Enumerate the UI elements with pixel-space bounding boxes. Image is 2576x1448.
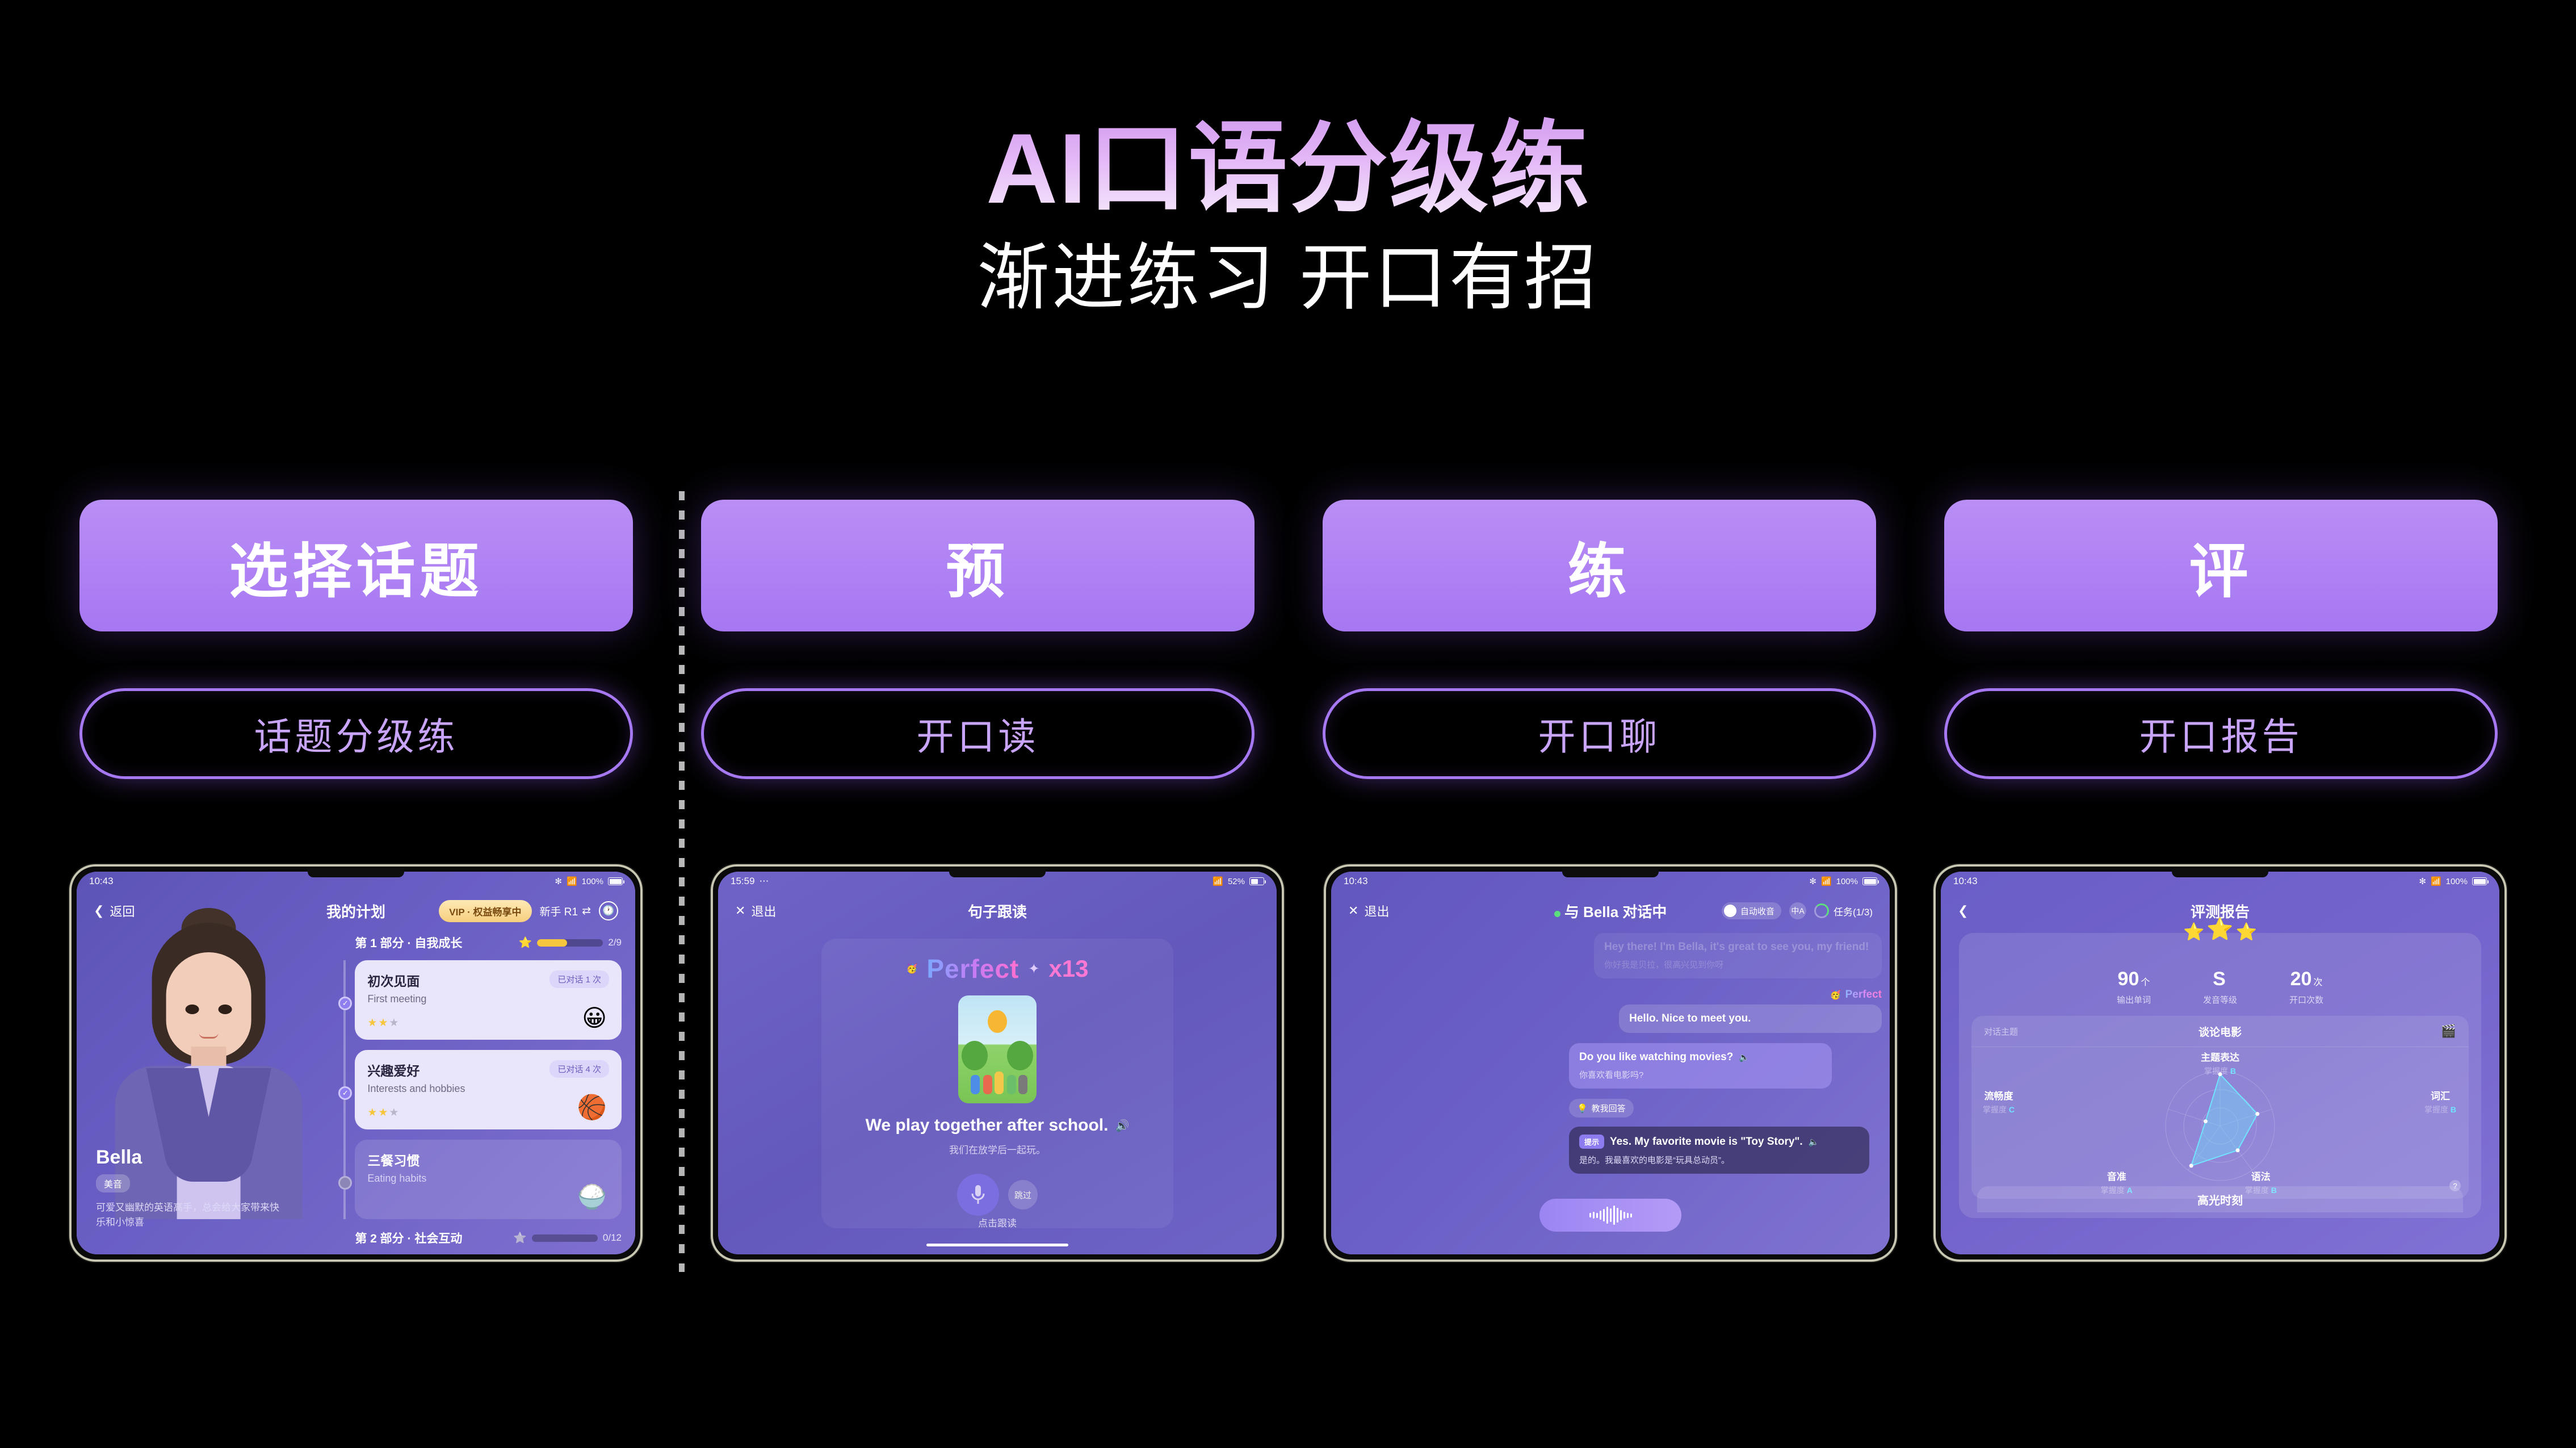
exit-button-3[interactable]: ✕ 退出: [1348, 902, 1389, 920]
lesson-title-en-2: Interests and hobbies: [367, 1083, 465, 1095]
bulb-icon: 💡: [1577, 1103, 1588, 1114]
stage-label-4: 评: [2189, 523, 2252, 609]
exit-label-3: 退出: [1364, 902, 1389, 920]
vip-badge[interactable]: VIP · 权益畅享中: [439, 900, 531, 922]
status-time-2: 15:59: [731, 876, 755, 887]
character-info: Bella 美音 可爱又幽默的英语高手，总会给大家带来快乐和小惊喜: [96, 1146, 283, 1229]
task-progress[interactable]: 任务(1/3): [1814, 903, 1873, 918]
check-icon-1: ✓: [338, 997, 352, 1010]
camera-notch: [308, 868, 404, 877]
stage-button-1[interactable]: 选择话题: [79, 500, 633, 631]
plan-pane: 第 1 部分 · 自我成长 ⭐ 2/9 ✓ ✓: [345, 931, 635, 1254]
chat-messages: Hey there! I'm Bella, it's great to see …: [1569, 933, 1882, 1186]
speaker-icon[interactable]: 🔈: [1739, 1052, 1750, 1062]
tablet-1: 10:43 ✻ 📶 100% ❮ 返回 我的计划: [69, 864, 643, 1262]
star-icon-gray: ⭐: [513, 1231, 527, 1245]
app-bar-2: ✕ 退出 句子跟读: [718, 891, 1277, 931]
lesson-stars-2: ★★★: [367, 1106, 400, 1119]
speaker-icon[interactable]: 🔈: [1809, 1137, 1819, 1147]
microphone-icon: [971, 1184, 985, 1206]
chat-bubble-ai: Do you like watching movies? 🔈 你喜欢看电影吗?: [1569, 1043, 1832, 1089]
character-desc: 可爱又幽默的英语高手，总会给大家带来快乐和小惊喜: [96, 1200, 283, 1229]
chat-bubble-hint: 提示 Yes. My favorite movie is "Toy Story"…: [1569, 1127, 1869, 1174]
app-bar-1: ❮ 返回 我的计划 VIP · 权益畅享中 新手 R1 ⇄ 🕐: [77, 891, 635, 931]
tablet-2: 15:59 ⋯ 📶 52% ✕ 退出 句子跟读: [711, 864, 1284, 1262]
wifi-icon: 📶: [2431, 876, 2441, 886]
stage-columns: 选择话题 话题分级练 预 开口读 练 开口聊 评: [79, 500, 2498, 779]
chevron-left-icon: ❮: [1958, 903, 1968, 918]
status-time-3: 10:43: [1344, 876, 1368, 887]
camera-notch: [2172, 868, 2268, 877]
record-button[interactable]: [957, 1174, 999, 1216]
tablet-3: 10:43 ✻ 📶 100% ✕ 退出: [1324, 864, 1897, 1262]
sub-label-4: 开口报告: [2139, 706, 2303, 761]
stage-button-4[interactable]: 评: [1944, 500, 2498, 631]
lesson-title-cn-3: 三餐习惯: [367, 1150, 426, 1169]
sparkle-icon: ✦: [1028, 961, 1039, 977]
section-header-1: 第 1 部分 · 自我成长 ⭐ 2/9: [355, 934, 622, 951]
hint-en: 提示 Yes. My favorite movie is "Toy Story"…: [1579, 1135, 1859, 1149]
topic-row: 对话主题 谈论电影 🎬: [1971, 1016, 2469, 1047]
level-switcher[interactable]: 新手 R1 ⇄: [540, 903, 591, 919]
lesson-title-en-1: First meeting: [367, 993, 426, 1005]
faded-cn: 你好我是贝拉，很高兴见到你呀: [1604, 959, 1872, 970]
section-title-1: 第 1 部分 · 自我成长: [355, 934, 462, 951]
lesson-emoji-2: 🏀: [577, 1094, 607, 1121]
speaker-icon[interactable]: 🔊: [1115, 1119, 1129, 1133]
radar-label-fluency: 流畅度 掌握度 C: [1983, 1088, 2015, 1115]
column-4: 评 开口报告: [1944, 500, 2498, 779]
sub-button-4[interactable]: 开口报告: [1944, 688, 2498, 779]
tablet-frame-4: 10:43 ✻ 📶 100% ❮ 评测报告: [1933, 864, 2507, 1262]
status-time-4: 10:43: [1953, 876, 1978, 887]
lesson-title-cn-1: 初次见面: [367, 970, 426, 990]
voice-input-button[interactable]: [1539, 1199, 1681, 1232]
tablet-frame-1: 10:43 ✻ 📶 100% ❮ 返回 我的计划: [69, 864, 643, 1262]
stage-label-2: 预: [946, 523, 1009, 609]
ai-msg-cn: 你喜欢看电影吗?: [1579, 1069, 1822, 1081]
stats-row: 90个 输出单词 S 发音等级 20次 开口次数: [1959, 933, 2481, 1006]
section-header-2: 第 2 部分 · 社会互动 ⭐ 0/12: [355, 1229, 622, 1246]
sentence-english: We play together after school. 🔊: [821, 1116, 1173, 1135]
tablet-4: 10:43 ✻ 📶 100% ❮ 评测报告: [1933, 864, 2507, 1262]
teach-me-button[interactable]: 💡 教我回答: [1569, 1099, 1634, 1118]
screen-my-plan: 10:43 ✻ 📶 100% ❮ 返回 我的计划: [77, 872, 635, 1254]
party-emoji: 🥳: [906, 963, 917, 974]
progress-bar-1: [537, 939, 603, 947]
camera-notch: [1562, 868, 1659, 877]
skip-button[interactable]: 跳过: [1008, 1180, 1038, 1210]
vip-label: VIP · 权益畅享中: [449, 904, 521, 918]
app-bar-4: ❮ 评测报告: [1941, 891, 2499, 931]
sub-button-2[interactable]: 开口读: [701, 688, 1255, 779]
mic-caption: 点击跟读: [978, 1215, 1017, 1229]
exit-label-2: 退出: [751, 902, 776, 920]
sentence-chinese: 我们在放学后一起玩。: [821, 1142, 1173, 1156]
history-icon[interactable]: 🕐: [599, 901, 618, 920]
live-dot-icon: [1554, 911, 1560, 917]
perfect-badge: 🥳 Perfect ✦ x13: [821, 953, 1173, 984]
ai-msg-en: Do you like watching movies? 🔈: [1579, 1051, 1822, 1064]
camera-notch: [949, 868, 1046, 877]
tablet-frame-3: 10:43 ✻ 📶 100% ✕ 退出: [1324, 864, 1897, 1262]
back-label-1: 返回: [110, 902, 135, 920]
bluetooth-icon: ✻: [555, 876, 562, 886]
avatar-pane: Bella 美音 可爱又幽默的英语高手，总会给大家带来快乐和小惊喜: [77, 891, 334, 1254]
check-icon-2: ✓: [338, 1086, 352, 1100]
lesson-card-3[interactable]: 三餐习惯 Eating habits 🍚: [355, 1140, 622, 1219]
lesson-badge-1: 已对话 1 次: [549, 970, 609, 988]
auto-record-label: 自动收音: [1740, 905, 1774, 917]
battery-icon: [1249, 877, 1264, 885]
auto-record-toggle[interactable]: 自动收音: [1722, 902, 1781, 919]
battery-icon: [1862, 877, 1877, 885]
stat-words: 90个 输出单词: [2117, 968, 2151, 1006]
page-subtitle: 渐进练习 开口有招: [0, 238, 2576, 319]
screen-chat: 10:43 ✻ 📶 100% ✕ 退出: [1331, 872, 1890, 1254]
lesson-title-cn-2: 兴趣爱好: [367, 1060, 465, 1079]
poster-root: AI口语分级练 渐进练习 开口有招 选择话题 话题分级练 预 开口读 练: [0, 0, 2576, 1448]
mic-controls: 跳过: [957, 1174, 1038, 1216]
lesson-emoji-1: 😀: [582, 1004, 607, 1032]
home-indicator: [926, 1244, 1068, 1246]
report-card: ⭐ ⭐ ⭐ 90个 输出单词 S 发音等级: [1959, 933, 2481, 1218]
sub-label-2: 开口读: [917, 706, 1039, 761]
sub-button-1[interactable]: 话题分级练: [79, 688, 633, 779]
chat-bubble-faded: Hey there! I'm Bella, it's great to see …: [1594, 933, 1882, 978]
close-icon: ✕: [735, 903, 745, 918]
bluetooth-icon: ✻: [2419, 876, 2426, 886]
back-button-1[interactable]: ❮ 返回: [94, 902, 135, 920]
lock-dot-icon: [338, 1176, 352, 1190]
app-title-4: 评测报告: [1941, 901, 2499, 922]
translate-icon[interactable]: 中A: [1789, 902, 1806, 919]
sub-button-3[interactable]: 开口聊: [1323, 688, 1876, 779]
progress-bar-2: [532, 1234, 598, 1242]
tablet-frame-2: 15:59 ⋯ 📶 52% ✕ 退出 句子跟读: [711, 864, 1284, 1262]
level-label: 新手 R1: [540, 903, 578, 919]
sub-label-1: 话题分级练: [254, 706, 459, 761]
app-bar-3: ✕ 退出 与 Bella 对话中 自动收音 中A: [1331, 891, 1890, 931]
user-msg-en: Hello. Nice to meet you.: [1629, 1012, 1872, 1025]
battery-percent-2: 52%: [1228, 877, 1245, 886]
stage-label-3: 练: [1567, 523, 1631, 609]
stage-button-3[interactable]: 练: [1323, 500, 1876, 631]
battery-icon: [608, 877, 623, 885]
progress-text-2: 0/12: [603, 1232, 622, 1244]
radar-polygon: [2155, 1061, 2285, 1191]
screen-report: 10:43 ✻ 📶 100% ❮ 评测报告: [1941, 872, 2499, 1254]
page-title: AI口语分级练: [0, 114, 2576, 225]
wifi-icon: 📶: [567, 876, 577, 886]
task-label: 任务(1/3): [1834, 904, 1873, 918]
stat-pronunciation: S 发音等级: [2203, 968, 2237, 1006]
faded-en: Hey there! I'm Bella, it's great to see …: [1604, 941, 1872, 953]
wifi-icon: 📶: [1821, 876, 1832, 886]
stage-button-2[interactable]: 预: [701, 500, 1255, 631]
battery-percent-4: 100%: [2446, 877, 2468, 886]
star-icon: ⭐: [519, 936, 532, 949]
perfect-count: x13: [1048, 955, 1088, 982]
battery-percent-1: 100%: [582, 877, 603, 886]
lesson-card-2[interactable]: 兴趣爱好 Interests and hobbies 已对话 4 次 ★★★ 🏀: [355, 1050, 622, 1129]
status-time-1: 10:43: [89, 876, 114, 887]
perfect-mini-word: Perfect: [1845, 989, 1882, 1001]
lesson-badge-2: 已对话 4 次: [549, 1060, 609, 1078]
lesson-emoji-3: 🍚: [577, 1183, 607, 1211]
lesson-illustration: [958, 995, 1037, 1103]
lesson-card-1[interactable]: 初次见面 First meeting 已对话 1 次 ★★★ 😀: [355, 960, 622, 1040]
progress-text-1: 2/9: [608, 937, 622, 948]
section-title-2: 第 2 部分 · 社会互动: [355, 1229, 462, 1246]
sub-label-3: 开口聊: [1538, 706, 1661, 761]
lesson-stars-1: ★★★: [367, 1016, 400, 1029]
stat-speak-count: 20次 开口次数: [2289, 968, 2323, 1006]
clapper-icon: 🎬: [2441, 1024, 2456, 1039]
toggle-knob: [1724, 905, 1736, 917]
party-emoji: 🥳: [1830, 989, 1841, 1001]
radar-label-vocab: 词汇 掌握度 B: [2424, 1088, 2456, 1115]
screen-sentence-repeat: 15:59 ⋯ 📶 52% ✕ 退出 句子跟读: [718, 872, 1277, 1254]
exit-button-2[interactable]: ✕ 退出: [735, 902, 776, 920]
column-1: 选择话题 话题分级练: [79, 500, 633, 779]
chat-bubble-user: Hello. Nice to meet you.: [1619, 1005, 1882, 1033]
back-button-4[interactable]: ❮: [1958, 903, 1968, 918]
accent-tag: 美音: [96, 1174, 130, 1192]
user-perfect-badge: 🥳 Perfect: [1569, 989, 1882, 1001]
more-icon: ⋯: [760, 876, 769, 887]
topic-value: 谈论电影: [1971, 1024, 2469, 1039]
highlight-moments-button[interactable]: 高光时刻: [1977, 1186, 2463, 1212]
bluetooth-icon: ✻: [1809, 876, 1816, 886]
perfect-word: Perfect: [926, 953, 1019, 984]
stage-label-1: 选择话题: [229, 523, 483, 609]
chevron-left-icon: ❮: [94, 903, 104, 918]
hint-cn: 是的。我最喜欢的电影是“玩具总动员”。: [1579, 1154, 1859, 1166]
character-name: Bella: [96, 1146, 283, 1169]
battery-icon: [2472, 877, 2487, 885]
swap-icon: ⇄: [582, 905, 591, 918]
column-2: 预 开口读: [701, 500, 1255, 779]
battery-percent-3: 100%: [1836, 877, 1858, 886]
close-icon: ✕: [1348, 903, 1358, 918]
wifi-icon: 📶: [1213, 876, 1223, 886]
task-ring-icon: [1814, 903, 1829, 918]
hero-section: AI口语分级练 渐进练习 开口有招: [0, 114, 2576, 319]
column-3: 练 开口聊: [1323, 500, 1876, 779]
radar-chart: 主题表达 掌握度 B 词汇 掌握度 B 语法 掌握度 B: [1971, 1051, 2469, 1198]
topic-panel: 对话主题 谈论电影 🎬 主题表达 掌握度 B 词汇: [1971, 1016, 2469, 1199]
lesson-title-en-3: Eating habits: [367, 1173, 426, 1185]
hint-tag: 提示: [1579, 1135, 1604, 1149]
app-title-2: 句子跟读: [718, 901, 1277, 922]
